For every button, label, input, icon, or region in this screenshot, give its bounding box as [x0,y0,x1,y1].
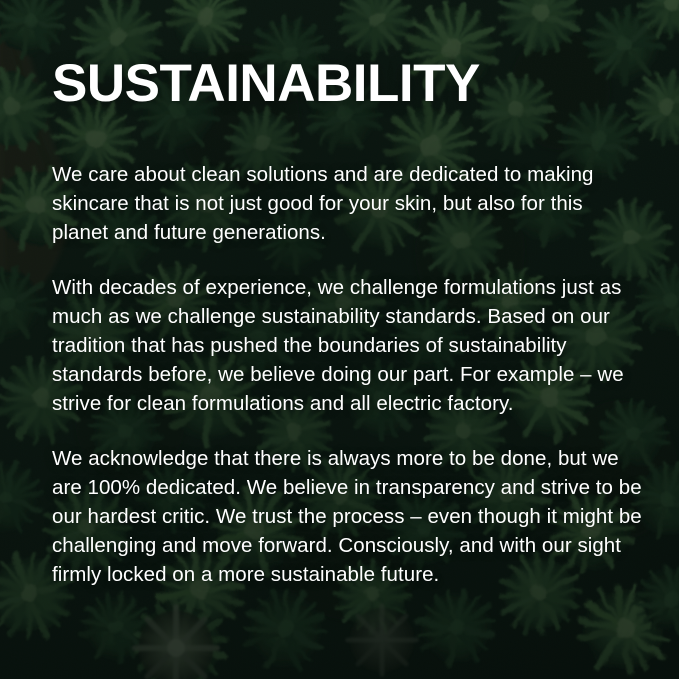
page-title: SUSTAINABILITY [52,57,480,110]
paragraph-1: We care about clean solutions and are de… [52,160,642,247]
content-container: SUSTAINABILITY We care about clean solut… [52,0,642,679]
sustainability-banner: SUSTAINABILITY We care about clean solut… [0,0,679,679]
paragraph-3: We acknowledge that there is always more… [52,444,642,589]
body-copy: We care about clean solutions and are de… [52,160,642,589]
paragraph-2: With decades of experience, we challenge… [52,273,642,418]
